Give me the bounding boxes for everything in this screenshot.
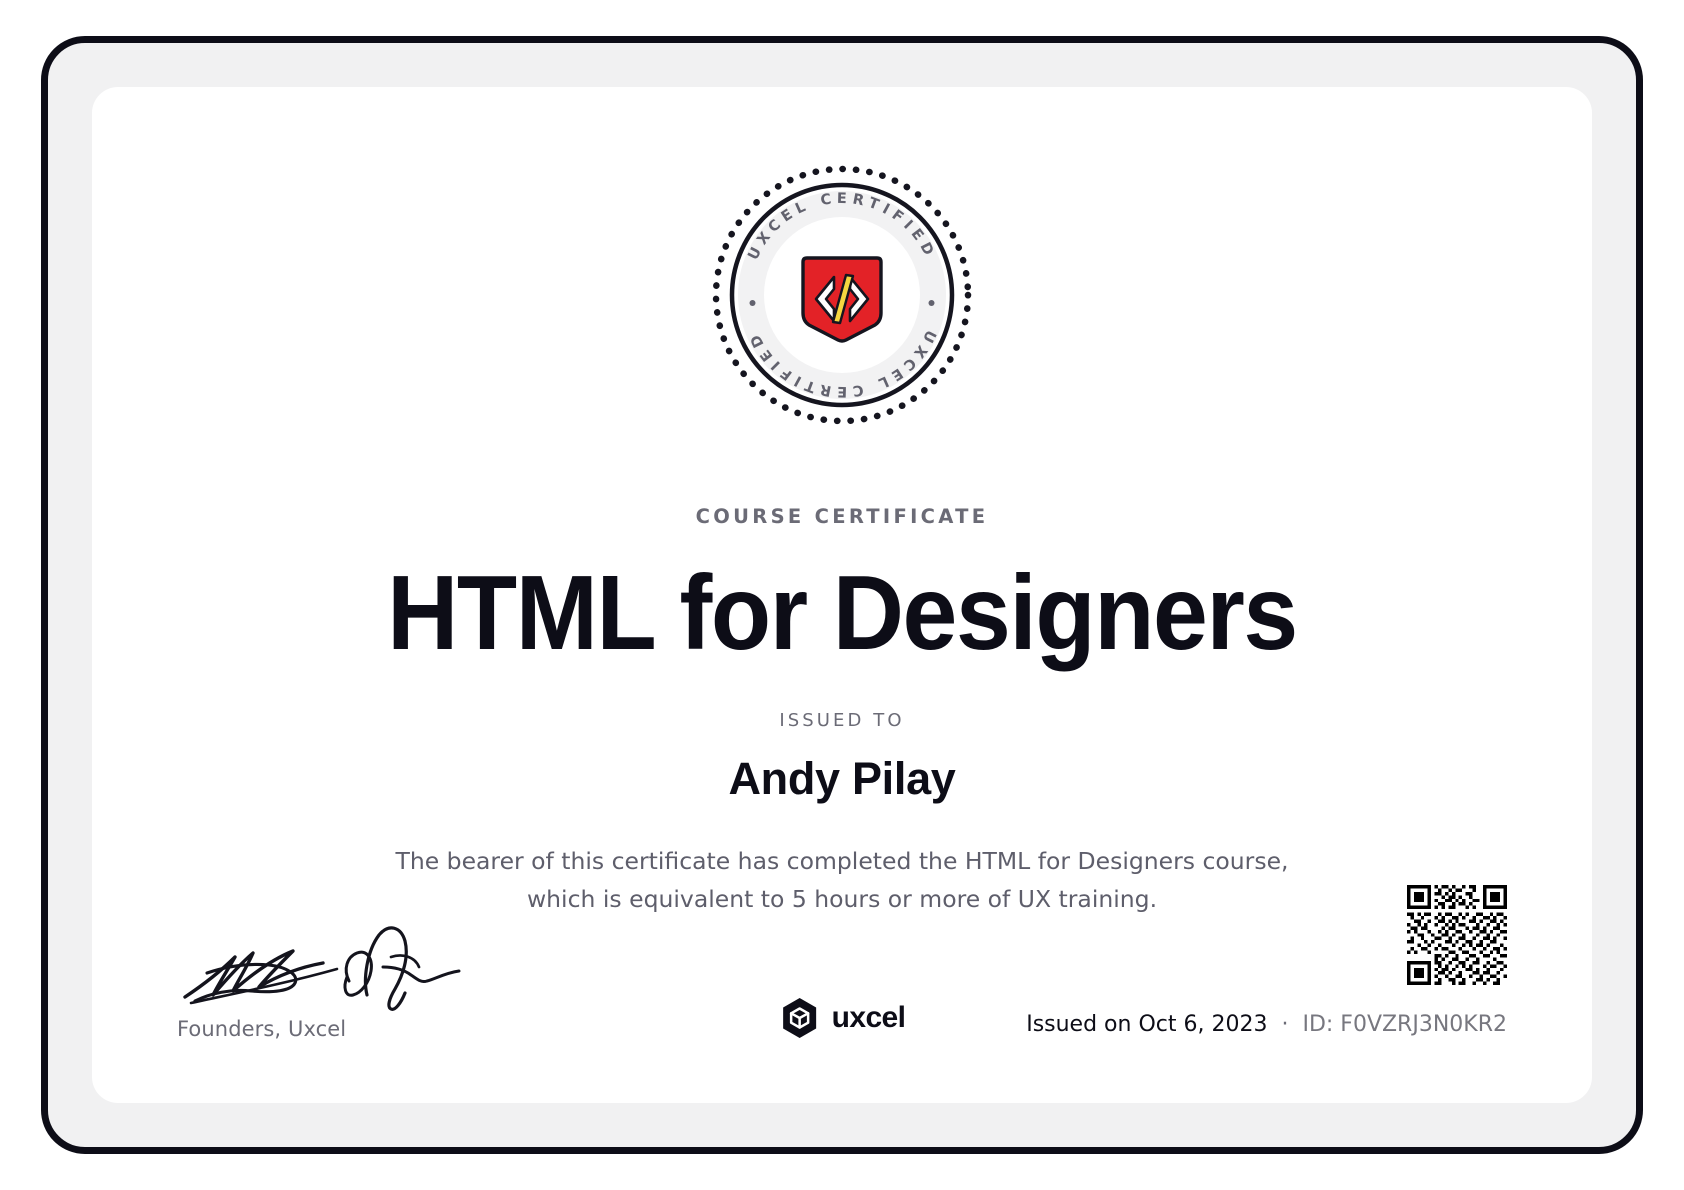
issued-to-label: ISSUED TO [92,710,1592,731]
uxcel-hexagon-cube-logo-icon [779,997,821,1039]
description-line-1: The bearer of this certificate has compl… [392,842,1292,880]
uxcel-brand: uxcel [779,997,906,1039]
uxcel-certified-seal: UXCEL CERTIFIED UXCEL CERTIFIED [710,163,974,427]
founder-signatures [177,923,597,1015]
issue-separator: · [1281,1012,1288,1037]
description-line-2: which is equivalent to 5 hours or more o… [392,880,1292,918]
seal-bullet-left [750,300,756,306]
html-code-shield-icon [803,258,881,341]
recipient-name: Andy Pilay [92,753,1592,805]
certificate-id: ID: F0VZRJ3N0KR2 [1302,1012,1507,1037]
certificate-card: UXCEL CERTIFIED UXCEL CERTIFIED [92,87,1592,1103]
certificate-description: The bearer of this certificate has compl… [392,842,1292,918]
founders-label: Founders, Uxcel [177,1017,597,1041]
issued-on-date: Issued on Oct 6, 2023 [1026,1012,1267,1037]
issue-info: Issued on Oct 6, 2023 · ID: F0VZRJ3N0KR2 [1026,1012,1507,1037]
verification-qr-code[interactable] [1407,885,1507,985]
course-title: HTML for Designers [145,557,1540,669]
course-certificate-kicker: COURSE CERTIFICATE [92,505,1592,528]
uxcel-wordmark: uxcel [832,1001,906,1035]
signature-block: Founders, Uxcel [177,923,597,1041]
seal-bullet-right [929,300,935,306]
certificate-frame: UXCEL CERTIFIED UXCEL CERTIFIED [41,36,1643,1154]
